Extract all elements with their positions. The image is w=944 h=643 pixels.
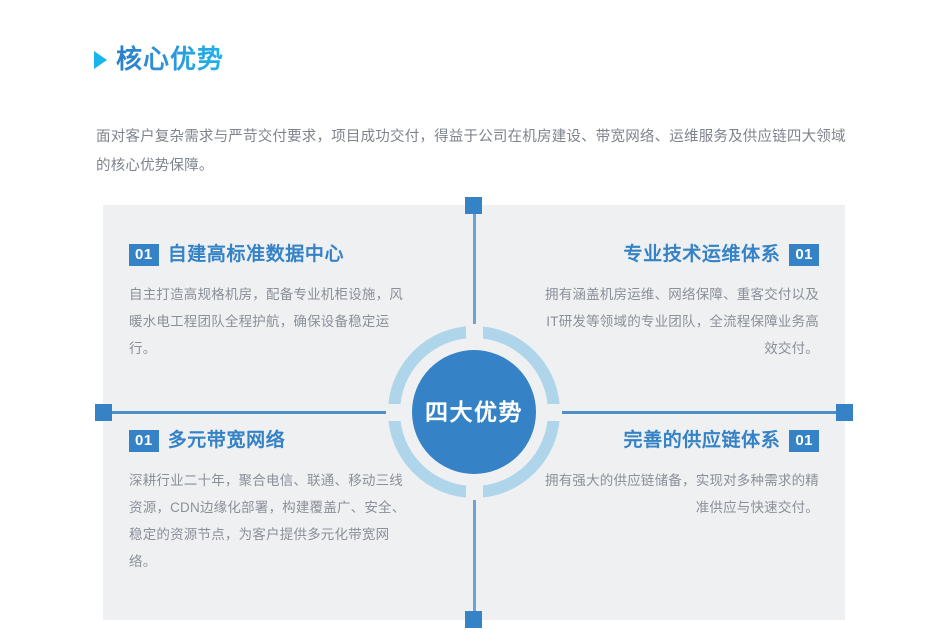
- card-title: 完善的供应链体系: [624, 429, 781, 453]
- axis-node-left: [95, 404, 112, 421]
- emblem-notch-right: [546, 404, 562, 421]
- play-triangle-icon: [94, 51, 107, 69]
- card-header: 专业技术运维体系 01: [541, 243, 819, 267]
- emblem-core-circle: 四大优势: [412, 350, 536, 474]
- card-body: 深耕行业二十年，聚合电信、联通、移动三线资源，CDN边缘化部署，构建覆盖广、安全…: [129, 467, 407, 575]
- emblem-notch-bottom: [466, 484, 483, 500]
- intro-paragraph: 面对客户复杂需求与严苛交付要求，项目成功交付，得益于公司在机房建设、带宽网络、运…: [96, 123, 848, 181]
- card-badge: 01: [789, 244, 819, 266]
- card-body: 拥有涵盖机房运维、网络保障、重客交付以及IT研发等领域的专业团队，全流程保障业务…: [541, 281, 819, 362]
- card-title: 专业技术运维体系: [624, 243, 781, 267]
- axis-node-right: [836, 404, 853, 421]
- advantage-card-top-left[interactable]: 01 自建高标准数据中心 自主打造高规格机房，配备专业机柜设施，风暖水电工程团队…: [129, 243, 407, 362]
- advantage-card-bottom-left[interactable]: 01 多元带宽网络 深耕行业二十年，聚合电信、联通、移动三线资源，CDN边缘化部…: [129, 429, 407, 575]
- advantage-card-bottom-right[interactable]: 完善的供应链体系 01 拥有强大的供应链储备，实现对多种需求的精准供应与快速交付…: [541, 429, 819, 521]
- card-badge: 01: [129, 430, 159, 452]
- axis-node-bottom: [465, 611, 482, 628]
- card-title: 自建高标准数据中心: [168, 243, 344, 267]
- section-heading: 核心优势: [94, 44, 224, 74]
- card-body: 自主打造高规格机房，配备专业机柜设施，风暖水电工程团队全程护航，确保设备稳定运行…: [129, 281, 407, 362]
- card-body: 拥有强大的供应链储备，实现对多种需求的精准供应与快速交付。: [541, 467, 819, 521]
- card-badge: 01: [789, 430, 819, 452]
- card-header: 01 多元带宽网络: [129, 429, 407, 453]
- advantage-card-top-right[interactable]: 专业技术运维体系 01 拥有涵盖机房运维、网络保障、重客交付以及IT研发等领域的…: [541, 243, 819, 362]
- card-header: 完善的供应链体系 01: [541, 429, 819, 453]
- page-title: 核心优势: [116, 44, 224, 74]
- card-badge: 01: [129, 244, 159, 266]
- axis-node-top: [465, 197, 482, 214]
- card-header: 01 自建高标准数据中心: [129, 243, 407, 267]
- advantages-diagram-panel: 四大优势 01 自建高标准数据中心 自主打造高规格机房，配备专业机柜设施，风暖水…: [103, 205, 845, 620]
- card-title: 多元带宽网络: [168, 429, 286, 453]
- emblem-label: 四大优势: [425, 399, 523, 425]
